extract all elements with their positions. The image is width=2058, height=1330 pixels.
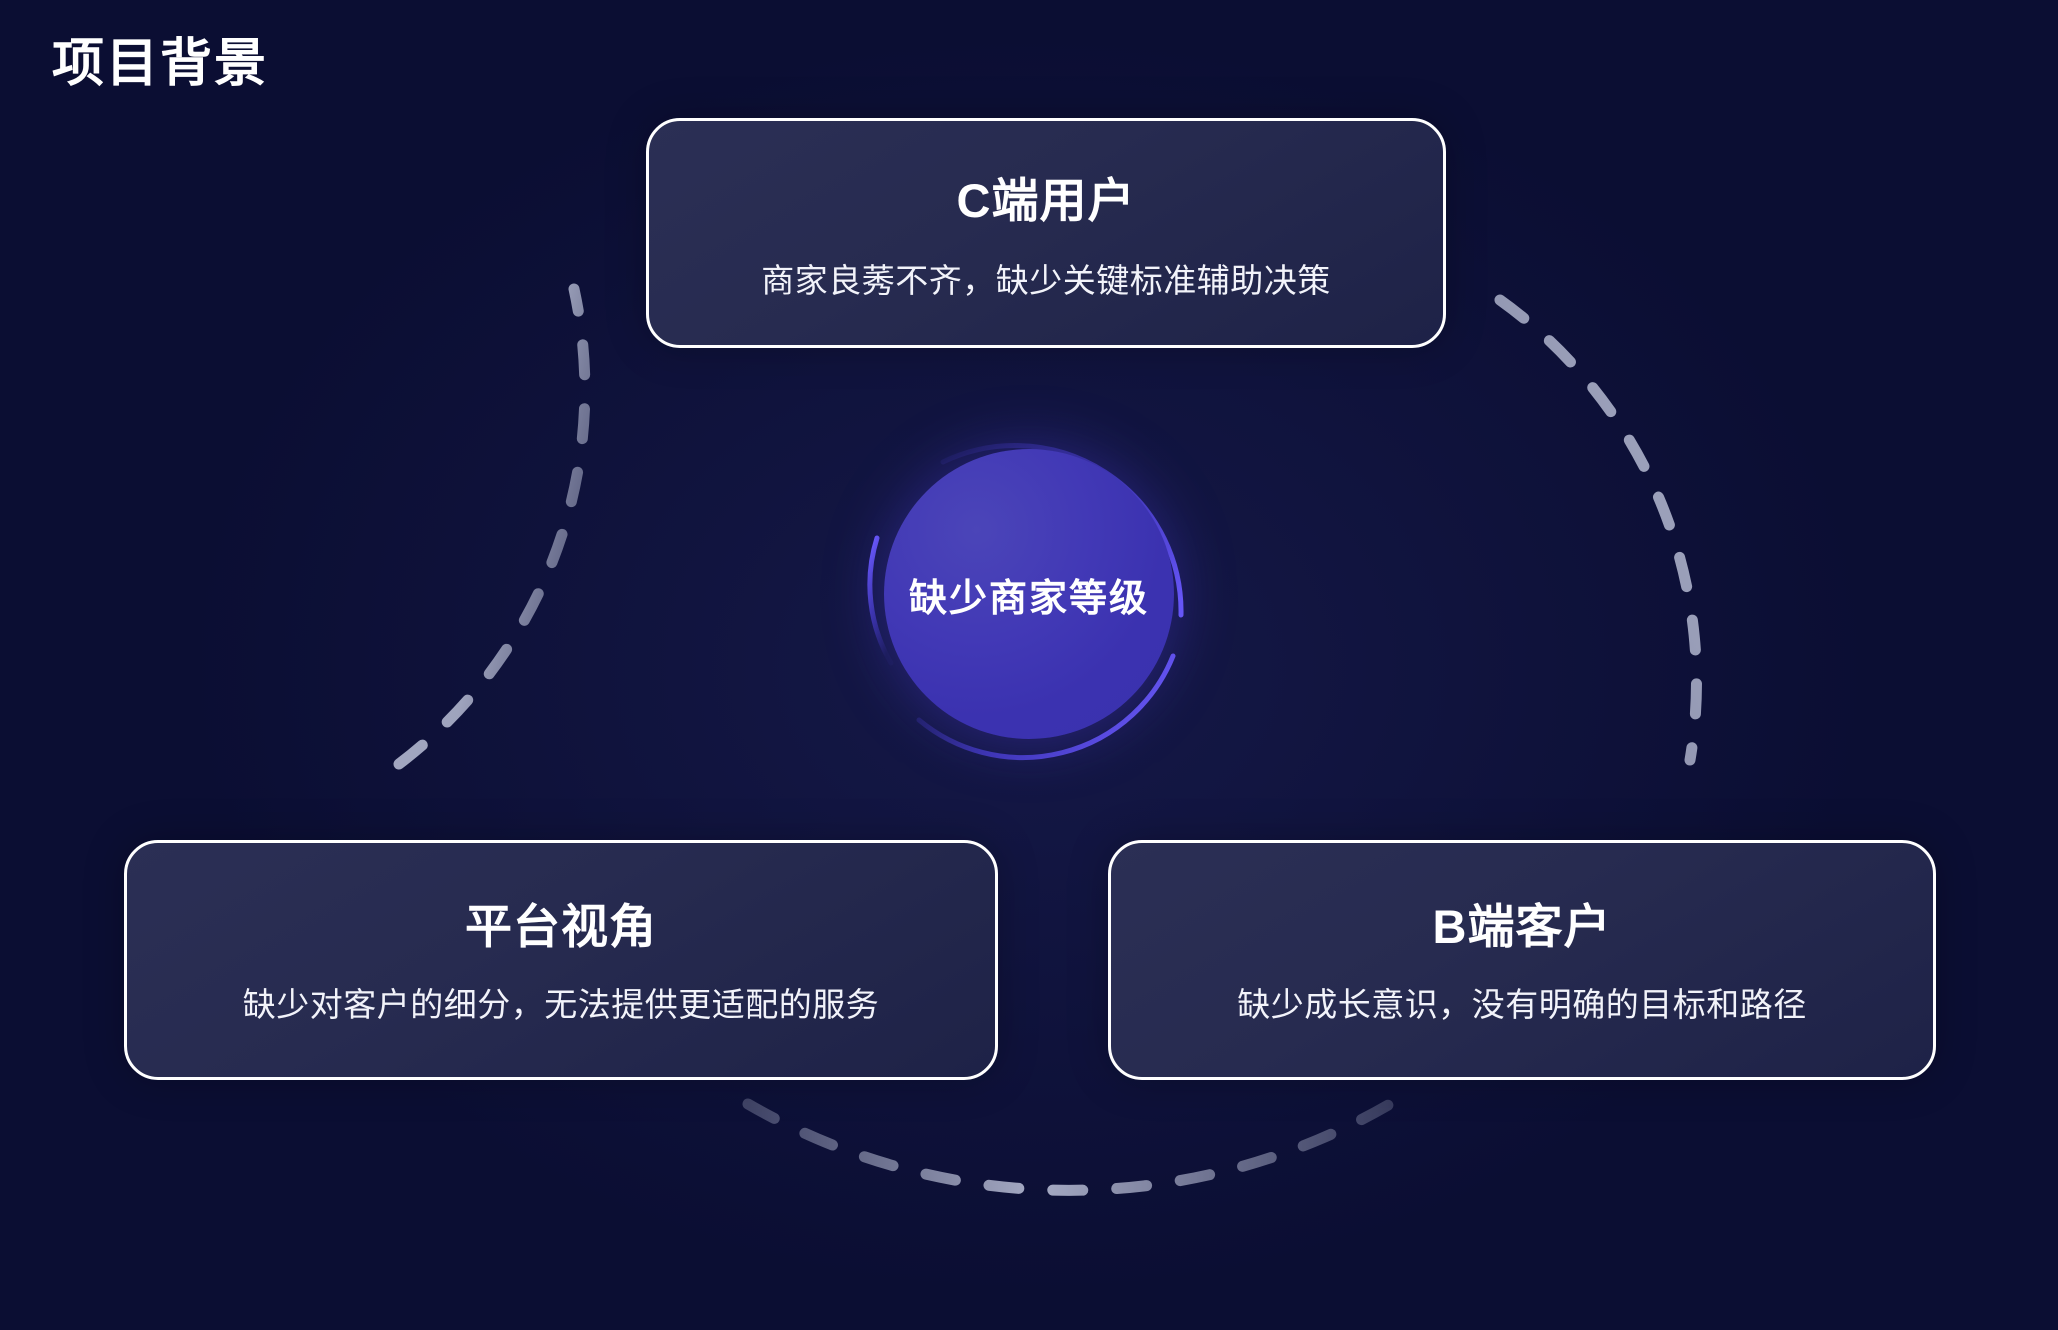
card-platform-view[interactable]: 平台视角 缺少对客户的细分，无法提供更适配的服务 xyxy=(124,840,998,1080)
card-title: 平台视角 xyxy=(465,899,657,955)
card-description: 缺少对客户的细分，无法提供更适配的服务 xyxy=(243,983,880,1028)
hub-circle[interactable]: 缺少商家等级 xyxy=(884,449,1174,739)
page-title: 项目背景 xyxy=(52,32,268,97)
card-b-end-client[interactable]: B端客户 缺少成长意识，没有明确的目标和路径 xyxy=(1108,840,1936,1080)
card-title: B端客户 xyxy=(1433,899,1612,955)
dashed-arc-bottom xyxy=(748,1104,1390,1190)
hub-label: 缺少商家等级 xyxy=(909,567,1149,622)
slide-canvas: 项目背景 xyxy=(0,0,2058,1330)
dashed-arc-right xyxy=(1500,300,1696,760)
card-title: C端用户 xyxy=(957,173,1136,229)
card-description: 商家良莠不齐，缺少关键标准辅助决策 xyxy=(761,259,1331,304)
dashed-arc-left xyxy=(399,289,585,764)
card-c-end-user[interactable]: C端用户 商家良莠不齐，缺少关键标准辅助决策 xyxy=(646,118,1446,348)
center-hub[interactable]: 缺少商家等级 xyxy=(855,420,1203,768)
card-description: 缺少成长意识，没有明确的目标和路径 xyxy=(1237,983,1807,1028)
